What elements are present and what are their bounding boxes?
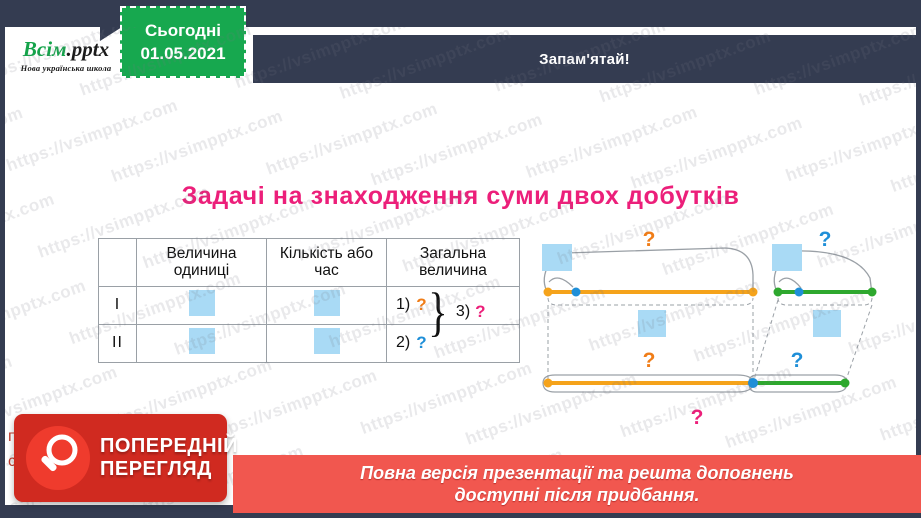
table-header-blank — [99, 239, 137, 287]
purchase-banner-line1: Повна версія презентації та решта доповн… — [360, 463, 794, 484]
step-3-question-mark: ? — [475, 302, 485, 322]
section-header-bar: Запам'ятай! — [253, 35, 916, 83]
today-badge-label: Сьогодні — [145, 21, 221, 41]
row-2-step-index: 2) — [396, 334, 410, 352]
diagram-q-top-right: ? — [819, 228, 832, 251]
sum-brace-group: } 3) ? — [425, 291, 486, 333]
preview-badge-line2: ПЕРЕГЛЯД — [100, 459, 238, 481]
section-header-title: Запам'ятай! — [539, 51, 630, 68]
diagram-q-bottom-right: ? — [791, 349, 804, 372]
today-badge: Сьогодні 01.05.2021 — [120, 6, 246, 78]
today-badge-wedge — [100, 27, 122, 41]
row-1-unit-cell — [137, 286, 267, 324]
step-3-index: 3) — [456, 303, 470, 321]
diagram-q-total: ? — [691, 406, 704, 429]
brand-logo-name-primary: Всім — [23, 37, 67, 61]
table-header-count: Кількість або час — [267, 239, 387, 287]
page-title: Задачі на знаходження суми двох добутків — [5, 182, 916, 211]
slide-viewer: Задачі на знаходження суми двох добутків… — [0, 0, 921, 518]
row-1-step-index: 1) — [396, 296, 410, 314]
table-header-unit: Величина одиниці — [137, 239, 267, 287]
preview-badge-line1: ПОПЕРЕДНІЙ — [100, 436, 238, 458]
blue-placeholder-box — [189, 328, 215, 354]
row-2-count-cell — [267, 324, 387, 362]
row-label-1: I — [99, 286, 137, 324]
row-1-count-cell — [267, 286, 387, 324]
diagram-q-bottom-left: ? — [643, 349, 656, 372]
row-2-unit-cell — [137, 324, 267, 362]
table-header-row: Величина одиниці Кількість або час Загал… — [99, 239, 520, 287]
table-header-total: Загальна величина — [387, 239, 520, 287]
brand-logo-subtitle: Нова українська школа — [21, 63, 112, 73]
today-badge-date: 01.05.2021 — [140, 44, 225, 64]
blue-placeholder-box — [314, 290, 340, 316]
frame-right-border — [916, 0, 921, 518]
row-2-question-mark: ? — [416, 333, 426, 353]
diagram-q-top-left: ? — [643, 228, 656, 251]
preview-badge[interactable]: ПОПЕРЕДНІЙ ПЕРЕГЛЯД — [14, 414, 227, 502]
curly-brace-icon: } — [428, 291, 447, 333]
magnifier-icon — [26, 426, 90, 490]
row-label-2: II — [99, 324, 137, 362]
blue-placeholder-box — [189, 290, 215, 316]
brand-logo-name: Всім.pptx — [23, 39, 109, 60]
segment-diagram: ? ? ? ? ? — [525, 220, 916, 440]
purchase-banner-line2: доступні після придбання. — [455, 485, 700, 506]
purchase-banner: Повна версія презентації та решта доповн… — [233, 455, 921, 513]
blue-placeholder-box — [314, 328, 340, 354]
